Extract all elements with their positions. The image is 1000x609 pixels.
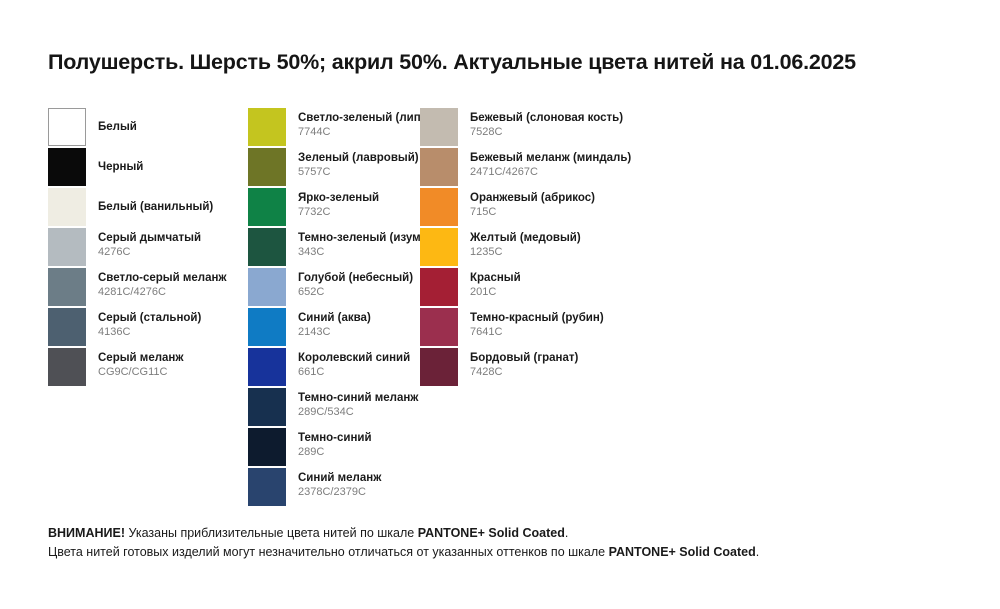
swatch-pantone-code: 7744C <box>298 125 431 139</box>
swatch-label-group: Королевский синий661C <box>298 348 410 386</box>
swatch-row[interactable]: Ярко-зеленый7732C <box>248 188 420 228</box>
swatch-name: Темно-синий меланж <box>298 391 418 405</box>
color-swatch[interactable] <box>420 268 458 306</box>
swatch-label-group: Черный <box>98 148 143 186</box>
column-warm-reds: Бежевый (слоновая кость)7528CБежевый мел… <box>420 108 720 388</box>
swatch-name: Желтый (медовый) <box>470 231 581 245</box>
swatch-pantone-code: 7428C <box>470 365 578 379</box>
swatch-pantone-code: 4136C <box>98 325 201 339</box>
color-swatch[interactable] <box>48 188 86 226</box>
swatch-row[interactable]: Оранжевый (абрикос)715C <box>420 188 720 228</box>
footer-line-1-end: . <box>565 526 568 540</box>
swatch-pantone-code: 652C <box>298 285 413 299</box>
swatch-name: Белый <box>98 120 137 134</box>
swatch-name: Серый (стальной) <box>98 311 201 325</box>
swatch-pantone-code: 661C <box>298 365 410 379</box>
swatch-pantone-code: 4276C <box>98 245 201 259</box>
swatch-row[interactable]: Синий меланж2378C/2379C <box>248 468 420 508</box>
swatch-name: Бежевый (слоновая кость) <box>470 111 623 125</box>
swatch-columns: БелыйЧерныйБелый (ванильный)Серый дымчат… <box>48 108 968 508</box>
swatch-label-group: Темно-синий меланж289C/534C <box>298 388 418 426</box>
swatch-label-group: Серый дымчатый4276C <box>98 228 201 266</box>
swatch-row[interactable]: Желтый (медовый)1235C <box>420 228 720 268</box>
color-swatch[interactable] <box>248 268 286 306</box>
color-swatch[interactable] <box>248 348 286 386</box>
swatch-pantone-code: 1235C <box>470 245 581 259</box>
swatch-name: Светло-серый меланж <box>98 271 227 285</box>
color-swatch[interactable] <box>248 188 286 226</box>
swatch-name: Серый дымчатый <box>98 231 201 245</box>
swatch-row[interactable]: Бордовый (гранат)7428C <box>420 348 720 388</box>
color-swatch[interactable] <box>420 228 458 266</box>
swatch-row[interactable]: Серый (стальной)4136C <box>48 308 248 348</box>
color-swatch[interactable] <box>420 148 458 186</box>
swatch-row[interactable]: Черный <box>48 148 248 188</box>
color-swatch[interactable] <box>248 468 286 506</box>
color-swatch[interactable] <box>48 148 86 186</box>
swatch-pantone-code: 7528C <box>470 125 623 139</box>
swatch-label-group: Серый (стальной)4136C <box>98 308 201 346</box>
swatch-row[interactable]: Темно-красный (рубин)7641C <box>420 308 720 348</box>
swatch-pantone-code: 289C/534C <box>298 405 418 419</box>
swatch-pantone-code: 715C <box>470 205 595 219</box>
swatch-name: Бордовый (гранат) <box>470 351 578 365</box>
swatch-row[interactable]: Белый <box>48 108 248 148</box>
swatch-label-group: Бежевый меланж (миндаль)2471C/4267C <box>470 148 631 186</box>
footer-line-2-end: . <box>756 545 759 559</box>
color-swatch[interactable] <box>48 268 86 306</box>
color-swatch[interactable] <box>248 308 286 346</box>
swatch-label-group: Оранжевый (абрикос)715C <box>470 188 595 226</box>
swatch-row[interactable]: Темно-зеленый (изумруд)343C <box>248 228 420 268</box>
footer-disclaimer: ВНИМАНИЕ! Указаны приблизительные цвета … <box>48 524 968 562</box>
swatch-name: Темно-синий <box>298 431 372 445</box>
color-swatch[interactable] <box>248 388 286 426</box>
swatch-name: Ярко-зеленый <box>298 191 379 205</box>
swatch-label-group: Белый <box>98 108 137 146</box>
swatch-label-group: Светло-серый меланж4281C/4276C <box>98 268 227 306</box>
swatch-row[interactable]: Светло-зеленый (липа)7744C <box>248 108 420 148</box>
swatch-row[interactable]: Бежевый меланж (миндаль)2471C/4267C <box>420 148 720 188</box>
footer-line-1-brand: PANTONE+ Solid Coated <box>418 526 565 540</box>
swatch-row[interactable]: Голубой (небесный)652C <box>248 268 420 308</box>
color-swatch[interactable] <box>48 348 86 386</box>
swatch-name: Синий (аква) <box>298 311 371 325</box>
swatch-pantone-code: 2143C <box>298 325 371 339</box>
swatch-name: Бежевый меланж (миндаль) <box>470 151 631 165</box>
column-greens-blues: Светло-зеленый (липа)7744CЗеленый (лавро… <box>248 108 420 508</box>
swatch-name: Серый меланж <box>98 351 184 365</box>
color-swatch[interactable] <box>420 108 458 146</box>
swatch-row[interactable]: Красный201C <box>420 268 720 308</box>
swatch-label-group: Белый (ванильный) <box>98 188 213 226</box>
swatch-pantone-code: 5757C <box>298 165 419 179</box>
swatch-name: Оранжевый (абрикос) <box>470 191 595 205</box>
swatch-label-group: Серый меланжCG9C/CG11C <box>98 348 184 386</box>
color-swatch[interactable] <box>48 228 86 266</box>
swatch-pantone-code: 4281C/4276C <box>98 285 227 299</box>
swatch-label-group: Голубой (небесный)652C <box>298 268 413 306</box>
swatch-pantone-code: 2471C/4267C <box>470 165 631 179</box>
color-swatch[interactable] <box>48 308 86 346</box>
swatch-row[interactable]: Темно-синий меланж289C/534C <box>248 388 420 428</box>
page-title: Полушерсть. Шерсть 50%; акрил 50%. Актуа… <box>48 50 856 75</box>
swatch-pantone-code: 2378C/2379C <box>298 485 381 499</box>
swatch-name: Темно-красный (рубин) <box>470 311 604 325</box>
footer-line-1-text: Указаны приблизительные цвета нитей по ш… <box>125 526 418 540</box>
swatch-row[interactable]: Темно-синий289C <box>248 428 420 468</box>
footer-line-2-text: Цвета нитей готовых изделий могут незнач… <box>48 545 609 559</box>
swatch-label-group: Светло-зеленый (липа)7744C <box>298 108 431 146</box>
swatch-name: Белый (ванильный) <box>98 200 213 214</box>
swatch-name: Зеленый (лавровый) <box>298 151 419 165</box>
swatch-name: Королевский синий <box>298 351 410 365</box>
swatch-row[interactable]: Королевский синий661C <box>248 348 420 388</box>
swatch-label-group: Темно-красный (рубин)7641C <box>470 308 604 346</box>
swatch-row[interactable]: Светло-серый меланж4281C/4276C <box>48 268 248 308</box>
color-swatch[interactable] <box>248 148 286 186</box>
footer-line-1: ВНИМАНИЕ! Указаны приблизительные цвета … <box>48 524 968 543</box>
color-swatch[interactable] <box>248 108 286 146</box>
swatch-pantone-code: 7641C <box>470 325 604 339</box>
color-swatch[interactable] <box>420 188 458 226</box>
color-swatch[interactable] <box>48 108 86 146</box>
footer-line-2: Цвета нитей готовых изделий могут незнач… <box>48 543 968 562</box>
swatch-pantone-code: 7732C <box>298 205 379 219</box>
swatch-label-group: Синий меланж2378C/2379C <box>298 468 381 506</box>
color-swatch[interactable] <box>248 428 286 466</box>
color-swatch[interactable] <box>420 348 458 386</box>
swatch-name: Красный <box>470 271 521 285</box>
swatch-label-group: Бордовый (гранат)7428C <box>470 348 578 386</box>
swatch-pantone-code: 289C <box>298 445 372 459</box>
swatch-label-group: Зеленый (лавровый)5757C <box>298 148 419 186</box>
swatch-row[interactable]: Синий (аква)2143C <box>248 308 420 348</box>
swatch-row[interactable]: Серый дымчатый4276C <box>48 228 248 268</box>
swatch-row[interactable]: Зеленый (лавровый)5757C <box>248 148 420 188</box>
swatch-label-group: Желтый (медовый)1235C <box>470 228 581 266</box>
swatch-row[interactable]: Белый (ванильный) <box>48 188 248 228</box>
swatch-pantone-code: 201C <box>470 285 521 299</box>
swatch-label-group: Темно-синий289C <box>298 428 372 466</box>
swatch-name: Черный <box>98 160 143 174</box>
swatch-name: Синий меланж <box>298 471 381 485</box>
footer-warning-label: ВНИМАНИЕ! <box>48 526 125 540</box>
swatch-pantone-code: CG9C/CG11C <box>98 365 184 379</box>
column-grays: БелыйЧерныйБелый (ванильный)Серый дымчат… <box>48 108 248 388</box>
swatch-label-group: Бежевый (слоновая кость)7528C <box>470 108 623 146</box>
color-swatch[interactable] <box>420 308 458 346</box>
swatch-name: Голубой (небесный) <box>298 271 413 285</box>
footer-line-2-brand: PANTONE+ Solid Coated <box>609 545 756 559</box>
swatch-row[interactable]: Бежевый (слоновая кость)7528C <box>420 108 720 148</box>
color-swatch[interactable] <box>248 228 286 266</box>
swatch-row[interactable]: Серый меланжCG9C/CG11C <box>48 348 248 388</box>
swatch-label-group: Синий (аква)2143C <box>298 308 371 346</box>
swatch-label-group: Ярко-зеленый7732C <box>298 188 379 226</box>
swatch-name: Светло-зеленый (липа) <box>298 111 431 125</box>
swatch-label-group: Красный201C <box>470 268 521 306</box>
